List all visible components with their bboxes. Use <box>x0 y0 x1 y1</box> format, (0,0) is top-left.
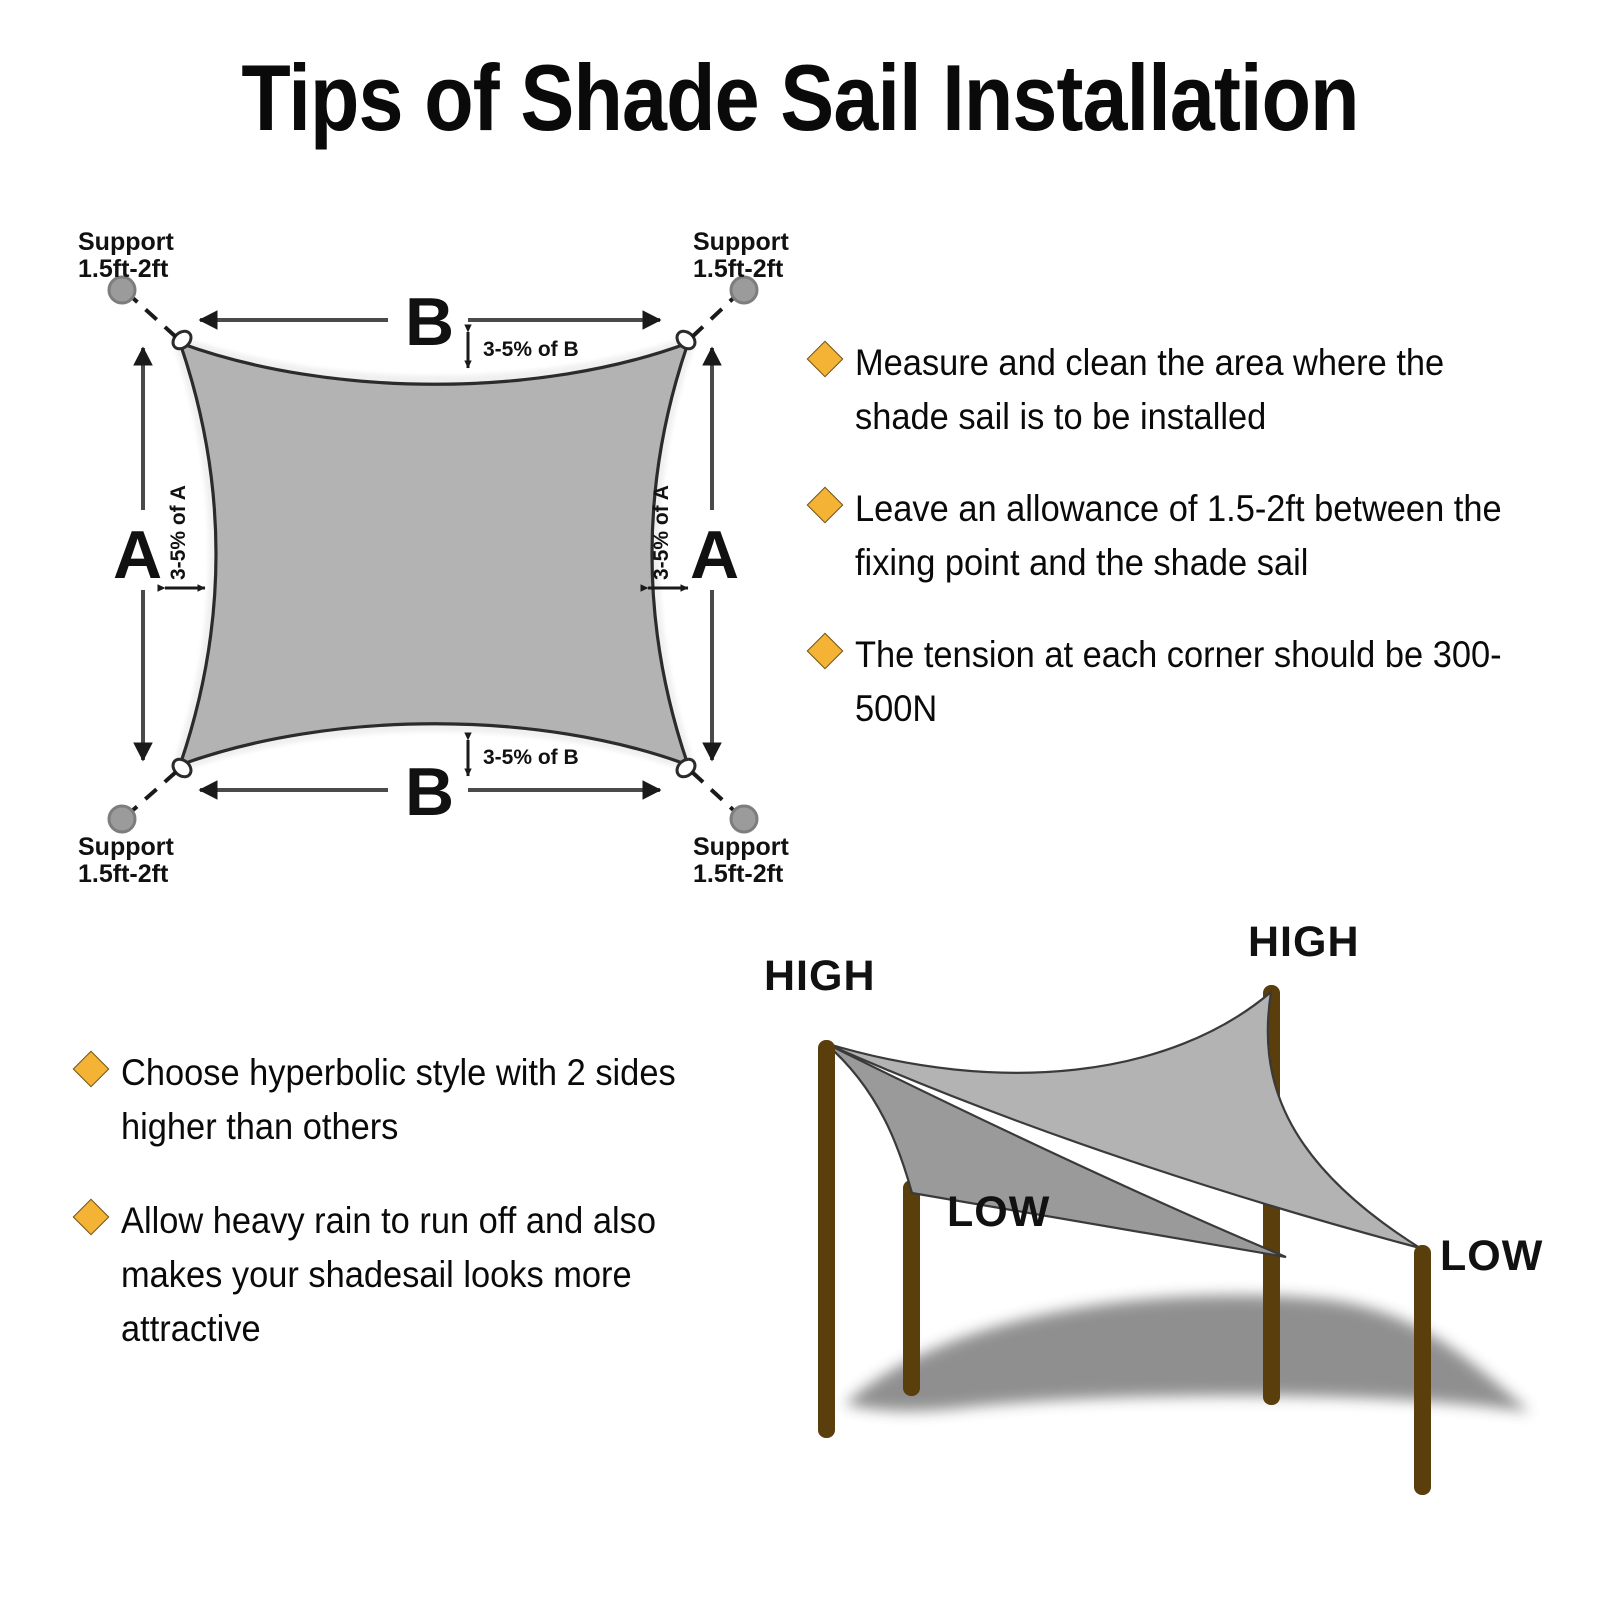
support-label-bottom-right-line1: Support <box>693 833 789 861</box>
diamond-bullet-icon <box>807 341 844 378</box>
tip-text: Leave an allowance of 1.5-2ft between th… <box>855 482 1522 590</box>
support-label-top-right-line1: Support <box>693 228 789 256</box>
sail-panel-front <box>825 1043 1286 1257</box>
poles-rear <box>903 985 1280 1405</box>
tip-text: Allow heavy rain to run off and also mak… <box>121 1194 751 1356</box>
tips-list-bottom-left: Choose hyperbolic style with 2 sides hig… <box>78 1046 798 1396</box>
tip-item: The tension at each corner should be 300… <box>812 628 1572 736</box>
tether-top-right <box>692 290 742 337</box>
tether-top-left <box>124 290 176 337</box>
curve-callout-bottom: 3-5% of B <box>468 740 579 776</box>
tip-item: Leave an allowance of 1.5-2ft between th… <box>812 482 1572 590</box>
curve-label-right: 3-5% of A <box>650 485 673 580</box>
shade-sail-shape <box>180 343 688 765</box>
post-top-right <box>1263 985 1280 1405</box>
curve-callout-top: 3-5% of B <box>468 332 579 368</box>
infographic-page: Tips of Shade Sail Installation <box>0 0 1600 1600</box>
diamond-bullet-icon <box>807 633 844 670</box>
support-label-top-right-line2: 1.5ft-2ft <box>693 255 784 283</box>
sail-panel-back <box>825 992 1420 1248</box>
curve-callout-right: 3-5% of A <box>648 485 688 588</box>
tip-text: The tension at each corner should be 300… <box>855 628 1522 736</box>
dimension-label-b-bottom: B <box>405 754 454 830</box>
tether-bottom-right <box>692 772 742 818</box>
tip-item: Measure and clean the area where the sha… <box>812 336 1572 444</box>
post-bottom-left <box>903 1180 920 1396</box>
label-high-left: HIGH <box>764 952 876 1000</box>
support-dot-bottom-right <box>731 806 757 832</box>
curve-label-left: 3-5% of A <box>167 485 190 580</box>
dimension-label-b-top: B <box>405 284 454 360</box>
hyper-post-labels: HIGH HIGH LOW LOW <box>764 918 1543 1280</box>
support-dot-top-right <box>731 277 757 303</box>
tether-bottom-left <box>124 772 176 818</box>
curve-callout-left: 3-5% of A <box>165 485 205 588</box>
support-points <box>109 277 757 832</box>
rect-sail-diagram: Support 1.5ft-2ft Support 1.5ft-2ft Supp… <box>78 228 789 888</box>
support-captions: Support 1.5ft-2ft Support 1.5ft-2ft Supp… <box>78 228 789 888</box>
support-dot-top-left <box>109 277 135 303</box>
post-bottom-right <box>1414 1245 1431 1495</box>
support-label-bottom-left-line2: 1.5ft-2ft <box>78 860 169 888</box>
diamond-bullet-icon <box>73 1051 110 1088</box>
grommet-bottom-right <box>674 756 699 781</box>
sail-edge-glow <box>180 343 688 765</box>
label-low-left: LOW <box>947 1188 1050 1236</box>
tip-item: Choose hyperbolic style with 2 sides hig… <box>78 1046 798 1154</box>
tip-text: Measure and clean the area where the sha… <box>855 336 1522 444</box>
label-high-right: HIGH <box>1248 918 1360 966</box>
grommet-top-left <box>170 328 195 353</box>
grommet-bottom-left <box>170 756 195 781</box>
diamond-bullet-icon <box>807 487 844 524</box>
dimension-label-a-left: A <box>113 517 162 593</box>
support-tethers <box>124 290 742 818</box>
tips-list-right: Measure and clean the area where the sha… <box>812 336 1572 774</box>
tip-item: Allow heavy rain to run off and also mak… <box>78 1194 798 1356</box>
diamond-bullet-icon <box>73 1199 110 1236</box>
curve-label-bottom: 3-5% of B <box>483 746 579 769</box>
post-top-left <box>818 1040 835 1438</box>
ground-shadow <box>845 1295 1530 1412</box>
page-title: Tips of Shade Sail Installation <box>112 48 1488 148</box>
support-label-bottom-right-line2: 1.5ft-2ft <box>693 860 784 888</box>
support-label-top-left-line2: 1.5ft-2ft <box>78 255 169 283</box>
support-label-top-left-line1: Support <box>78 228 174 256</box>
curve-label-top: 3-5% of B <box>483 338 579 361</box>
poles-front <box>818 1040 1431 1495</box>
support-dot-bottom-left <box>109 806 135 832</box>
hyperbolic-sail-diagram: HIGH HIGH LOW LOW <box>764 918 1543 1495</box>
corner-grommets <box>170 328 699 781</box>
label-low-right: LOW <box>1440 1232 1543 1280</box>
support-label-bottom-left-line1: Support <box>78 833 174 861</box>
grommet-top-right <box>674 328 699 353</box>
tip-text: Choose hyperbolic style with 2 sides hig… <box>121 1046 751 1154</box>
dimension-label-a-right: A <box>690 517 739 593</box>
